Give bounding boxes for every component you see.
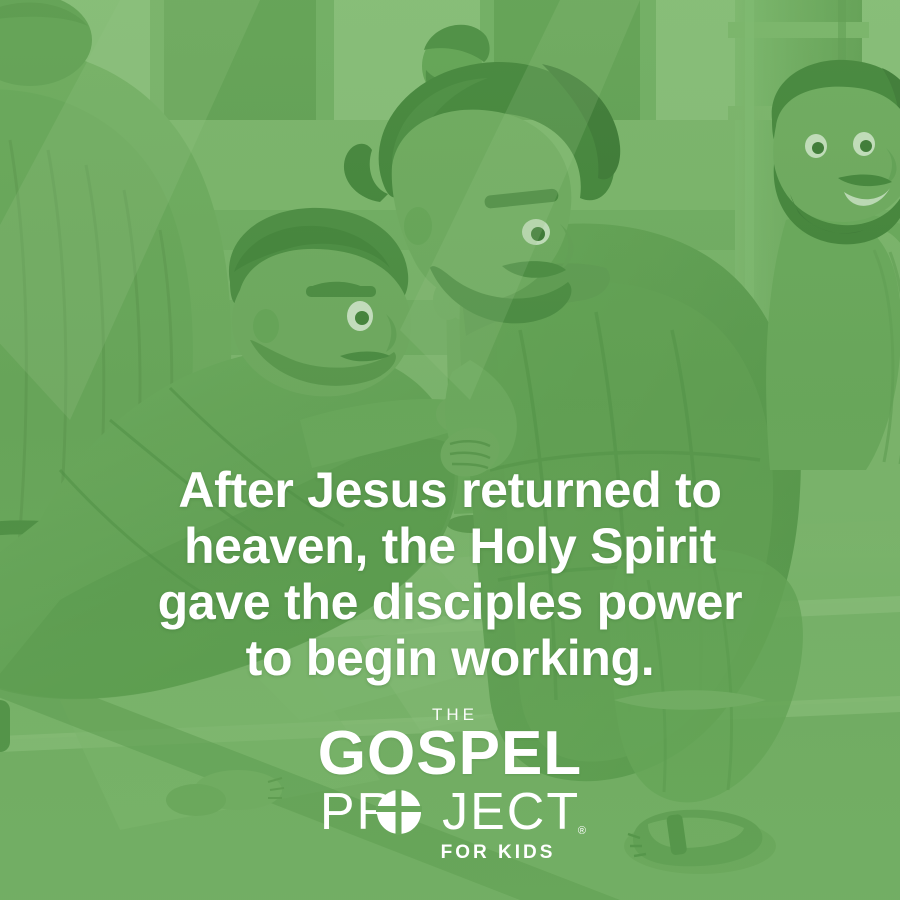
logo-for-kids-text: FOR KIDS xyxy=(396,843,600,863)
logo-gospel-text: GOSPEL xyxy=(300,725,600,783)
caption-line-2: heaven, the Holy Spirit xyxy=(90,518,810,574)
caption-line-1: After Jesus returned to xyxy=(90,462,810,518)
bible-story-card: After Jesus returned to heaven, the Holy… xyxy=(0,0,900,900)
logo-project-row: PRJECT ® xyxy=(300,785,600,841)
circle-cross-emblem-icon xyxy=(376,789,422,835)
gospel-project-logo: THE GOSPEL PRJECT ® FOR KIDS xyxy=(300,706,600,866)
registered-trademark-symbol: ® xyxy=(578,826,586,837)
story-caption: After Jesus returned to heaven, the Holy… xyxy=(0,462,900,686)
caption-line-4: to begin working. xyxy=(90,630,810,686)
caption-line-3: gave the disciples power xyxy=(90,574,810,630)
logo-project-suffix: JECT xyxy=(442,783,580,841)
logo-the-text: THE xyxy=(310,706,600,724)
logo-project-text: PRJECT xyxy=(300,785,600,839)
